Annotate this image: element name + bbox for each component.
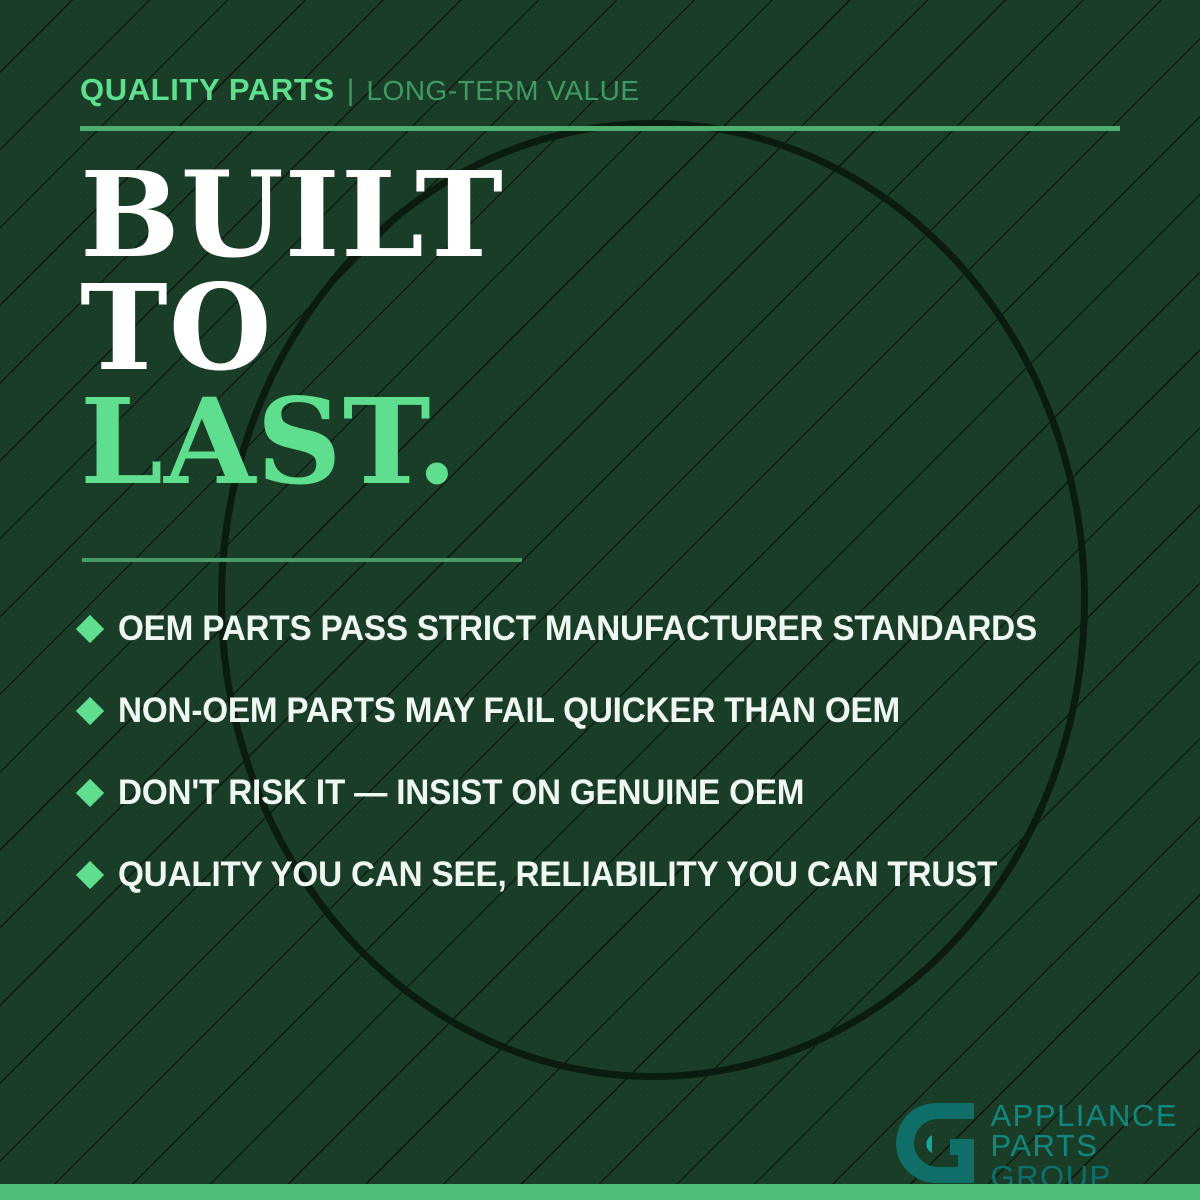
diamond-icon (76, 779, 104, 807)
list-item-label: NON-OEM PARTS MAY FAIL QUICKER THAN OEM (118, 691, 900, 731)
eyebrow-divider: | (347, 74, 355, 108)
headline-line-2: TO (80, 271, 504, 384)
eyebrow-sub-label: LONG-TERM VALUE (366, 75, 639, 107)
bottom-accent-bar (0, 1184, 1200, 1200)
list-item-label: OEM PARTS PASS STRICT MANUFACTURER STAND… (118, 609, 1037, 649)
eyebrow-main-label: QUALITY PARTS (80, 72, 335, 108)
headline-line-3: LAST. (80, 385, 504, 498)
logo-word-appliance: APPLIANCE (990, 1101, 1178, 1131)
benefit-list: OEM PARTS PASS STRICT MANUFACTURER STAND… (80, 588, 1160, 916)
poster-canvas: QUALITY PARTS | LONG-TERM VALUE BUILT TO… (0, 0, 1200, 1200)
g-monogram-icon (892, 1099, 978, 1185)
page-title: BUILT TO LAST. (80, 158, 504, 498)
list-item: NON-OEM PARTS MAY FAIL QUICKER THAN OEM (80, 670, 1160, 752)
headline-line-1: BUILT (80, 158, 504, 271)
list-item: DON'T RISK IT — INSIST ON GENUINE OEM (80, 752, 1160, 834)
diamond-icon (76, 861, 104, 889)
diamond-icon (76, 697, 104, 725)
logo-wordmark: APPLIANCE PARTS GROUP (990, 1099, 1178, 1192)
eyebrow-header: QUALITY PARTS | LONG-TERM VALUE (80, 72, 640, 108)
diamond-icon (76, 615, 104, 643)
list-item: OEM PARTS PASS STRICT MANUFACTURER STAND… (80, 588, 1160, 670)
brand-logo: APPLIANCE PARTS GROUP (892, 1099, 1178, 1192)
list-item: QUALITY YOU CAN SEE, RELIABILITY YOU CAN… (80, 834, 1160, 916)
list-item-label: QUALITY YOU CAN SEE, RELIABILITY YOU CAN… (118, 855, 997, 895)
header-rule (80, 126, 1120, 131)
headline-underline-rule (82, 558, 522, 562)
logo-word-parts: PARTS (990, 1131, 1178, 1161)
list-item-label: DON'T RISK IT — INSIST ON GENUINE OEM (118, 773, 804, 813)
